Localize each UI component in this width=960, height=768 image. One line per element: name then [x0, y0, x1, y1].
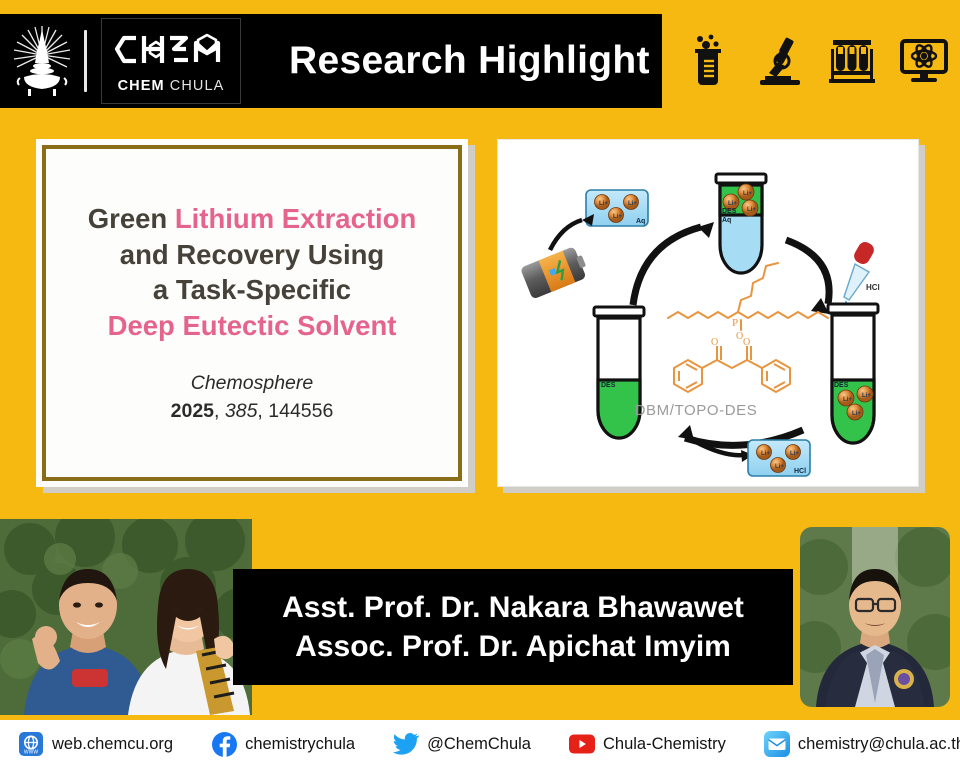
svg-text:DES: DES — [722, 208, 737, 215]
svg-text:Li+: Li+ — [747, 207, 756, 213]
authors-group-photo — [0, 519, 252, 715]
extraction-tube: Li+ Li+ Li+ DES Aq — [716, 174, 766, 273]
loaded-des-tube: Li+ Li+ Li+ DES — [828, 304, 878, 443]
footer-bar: WWW web.chemcu.org chemistrychula @ChemC… — [0, 717, 960, 768]
svg-text:Li+: Li+ — [728, 201, 737, 207]
website-label: web.chemcu.org — [52, 735, 173, 754]
author-name-1: Asst. Prof. Dr. Nakara Bhawawet — [282, 588, 744, 627]
twitter-icon — [393, 731, 419, 757]
arrow-extraction-to-stripping — [786, 240, 829, 304]
author-name-2: Assoc. Prof. Dr. Apichat Imyim — [295, 627, 731, 666]
chulalongkorn-emblem-icon — [6, 17, 78, 105]
journal-citation: Chemosphere 2025, 385, 144556 — [171, 370, 334, 425]
svg-text:Li+: Li+ — [843, 397, 852, 403]
facebook-label: chemistrychula — [245, 735, 355, 754]
dbm-molecule — [674, 346, 790, 392]
scheme-caption: DBM/TOPO-DES — [635, 402, 758, 419]
lithium-extraction-cycle-diagram: Li+ Li+ Li+ Aq Li+ Li+ Li+ — [498, 140, 918, 486]
svg-text:HCl: HCl — [794, 468, 806, 475]
email-icon — [764, 731, 790, 757]
twitter-label: @ChemChula — [427, 735, 531, 754]
title-line3: a Task-Specific — [88, 272, 417, 308]
svg-text:Li+: Li+ — [775, 464, 784, 470]
svg-text:Li+: Li+ — [743, 191, 752, 197]
facebook-icon — [211, 731, 237, 757]
research-title: Green Lithium Extraction and Recovery Us… — [88, 201, 417, 344]
chem-hexagon-wordmark-icon — [112, 29, 230, 75]
author-portrait-photo — [800, 527, 950, 707]
research-highlight-poster: CHEM CHULA Research Highlight — [0, 0, 960, 768]
title-line2: and Recovery Using — [88, 237, 417, 273]
logo-chem-bold: CHEM — [118, 78, 165, 94]
svg-text:WWW: WWW — [24, 750, 38, 756]
citation-details: 2025, 385, 144556 — [171, 398, 334, 426]
graphical-abstract-card: Li+ Li+ Li+ Aq Li+ Li+ Li+ — [497, 139, 919, 487]
stripped-aqueous-box: Li+ Li+ Li+ HCl — [748, 440, 810, 476]
svg-text:Li+: Li+ — [599, 201, 608, 207]
title-line4-accent: Deep Eutectic Solvent — [88, 308, 417, 344]
logo-chula-light: CHULA — [165, 78, 225, 94]
svg-text:HCl: HCl — [866, 283, 880, 292]
battery-node — [520, 245, 590, 300]
svg-text:Li+: Li+ — [862, 393, 871, 399]
footer-youtube[interactable]: Chula-Chemistry — [569, 731, 726, 757]
hcl-dropper: HCl — [844, 239, 880, 311]
dbm-o1-label: O — [711, 337, 718, 348]
header-bar: CHEM CHULA Research Highlight — [0, 14, 662, 108]
youtube-label: Chula-Chemistry — [603, 735, 726, 754]
title-line1-accent: Lithium Extraction — [175, 203, 416, 234]
footer-website[interactable]: WWW web.chemcu.org — [18, 731, 173, 757]
aqueous-feed-box: Li+ Li+ Li+ Aq — [586, 190, 648, 226]
footer-twitter[interactable]: @ChemChula — [393, 731, 531, 757]
page-title: Research Highlight — [241, 39, 662, 83]
citation-volume: 385 — [225, 400, 258, 422]
beaker-icon — [682, 33, 734, 89]
svg-text:Li+: Li+ — [628, 201, 637, 207]
authors-name-band: Asst. Prof. Dr. Nakara Bhawawet Assoc. P… — [233, 569, 793, 685]
journal-name: Chemosphere — [171, 370, 334, 398]
title-line1-plain: Green — [88, 203, 175, 234]
youtube-icon — [569, 731, 595, 757]
citation-article: 144556 — [268, 400, 333, 422]
arrow-aqueous-to-extraction — [633, 227, 701, 305]
svg-text:DES: DES — [834, 382, 849, 389]
chem-chula-logo: CHEM CHULA — [101, 18, 241, 104]
svg-text:Li+: Li+ — [613, 214, 622, 220]
test-tube-rack-icon — [826, 33, 878, 89]
microscope-icon — [754, 33, 806, 89]
website-icon: WWW — [18, 731, 44, 757]
email-label: chemistry@chula.ac.th — [798, 735, 960, 754]
svg-text:DES: DES — [601, 382, 616, 389]
dbm-o2-label: O — [743, 337, 750, 348]
svg-text:Li+: Li+ — [790, 451, 799, 457]
svg-text:Aq: Aq — [636, 218, 645, 225]
chem-chula-wordmark: CHEM CHULA — [118, 78, 225, 94]
topo-p-label: P — [732, 317, 738, 329]
svg-text:Aq: Aq — [722, 217, 731, 224]
title-card: Green Lithium Extraction and Recovery Us… — [36, 139, 468, 487]
footer-facebook[interactable]: chemistrychula — [211, 731, 355, 757]
footer-email[interactable]: chemistry@chula.ac.th — [764, 731, 960, 757]
svg-text:Li+: Li+ — [761, 451, 770, 457]
logo-divider — [84, 30, 87, 92]
citation-year: 2025 — [171, 400, 214, 422]
header-icon-row — [672, 14, 960, 108]
arrow-battery-to-aqueous — [550, 220, 582, 250]
svg-text:Li+: Li+ — [852, 411, 861, 417]
computer-atom-icon — [898, 33, 950, 89]
